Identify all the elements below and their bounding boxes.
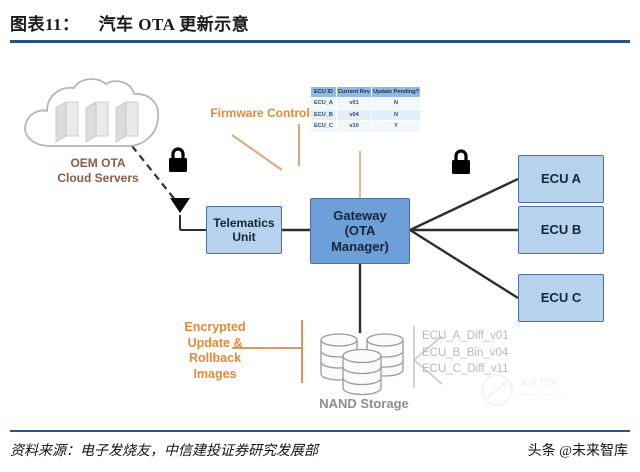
col-update-pending: Update Pending? — [372, 87, 421, 98]
node-gateway: Gateway (OTA Manager) — [310, 198, 410, 264]
cell-current-rev: v01 — [337, 98, 372, 109]
cell-current-rev: v04 — [337, 109, 372, 120]
cell-current-rev: v10 — [337, 121, 372, 132]
node-ecu-c: ECU C — [518, 274, 604, 322]
node-gateway-label: Gateway (OTA Manager) — [331, 208, 389, 255]
table-row: ECU_B v04 N — [311, 109, 421, 120]
node-ecu-a-label: ECU A — [541, 171, 581, 187]
cloud-icon — [16, 76, 166, 158]
table-row: ECU_A v01 N — [311, 98, 421, 109]
node-ecu-b: ECU B — [518, 206, 604, 254]
node-telematics-unit: Telematics Unit — [206, 206, 282, 254]
cell-ecu-id: ECU_C — [311, 121, 337, 132]
page-title: 图表11： 汽车 OTA 更新示意 — [10, 10, 249, 35]
antenna-icon — [168, 196, 192, 223]
wire-gateway-to-ecu-c — [410, 230, 518, 298]
table-header-row: ECU ID Current Rev Update Pending? — [311, 87, 421, 98]
wire-gateway-to-ecu-a — [410, 179, 518, 230]
table-row: ECU_C v10 Y — [311, 121, 421, 132]
firmware-status-table: ECU ID Current Rev Update Pending? ECU_A… — [310, 86, 421, 133]
storage-file-list: ECU_A_Diff_v01 ECU_B_Bin_v04 ECU_C_Diff_… — [422, 328, 552, 378]
footer-divider — [10, 430, 630, 432]
node-telematics-unit-label: Telematics Unit — [213, 216, 274, 245]
source-note: 资料来源：电子发烧友，中信建投证券研究发展部 — [10, 440, 318, 460]
cell-ecu-id: ECU_B — [311, 109, 337, 120]
ota-architecture-diagram: OEM OTA Cloud Servers Firmware Control E… — [10, 48, 630, 426]
cell-update-pending: Y — [372, 121, 421, 132]
leader-firmware-control-diagonal — [232, 135, 282, 170]
col-current-rev: Current Rev — [337, 87, 372, 98]
cell-ecu-id: ECU_A — [311, 98, 337, 109]
cell-update-pending: N — [372, 98, 421, 109]
node-ecu-c-label: ECU C — [541, 290, 581, 306]
padlock-icon-cloud — [167, 146, 189, 179]
figure-page: 图表11： 汽车 OTA 更新示意 — [0, 0, 640, 472]
database-icon — [315, 330, 411, 398]
cell-update-pending: N — [372, 109, 421, 120]
nand-storage-label: NAND Storage — [305, 396, 423, 412]
firmware-control-label: Firmware Control — [195, 106, 325, 121]
col-ecu-id: ECU ID — [311, 87, 337, 98]
node-ecu-a: ECU A — [518, 155, 604, 203]
encrypted-update-label: Encrypted Update & Rollback Images — [160, 320, 270, 383]
watermark-subtext: www.vzkoo.com — [519, 392, 565, 398]
figure-title-text: 汽车 OTA 更新示意 — [99, 15, 250, 34]
figure-label: 图表11： — [10, 15, 80, 34]
node-ecu-b-label: ECU B — [541, 222, 581, 238]
padlock-icon-ecu — [450, 148, 472, 181]
cloud-label: OEM OTA Cloud Servers — [38, 156, 158, 186]
brand-note: 头条 @未来智库 — [528, 440, 628, 460]
header-divider — [10, 40, 630, 43]
